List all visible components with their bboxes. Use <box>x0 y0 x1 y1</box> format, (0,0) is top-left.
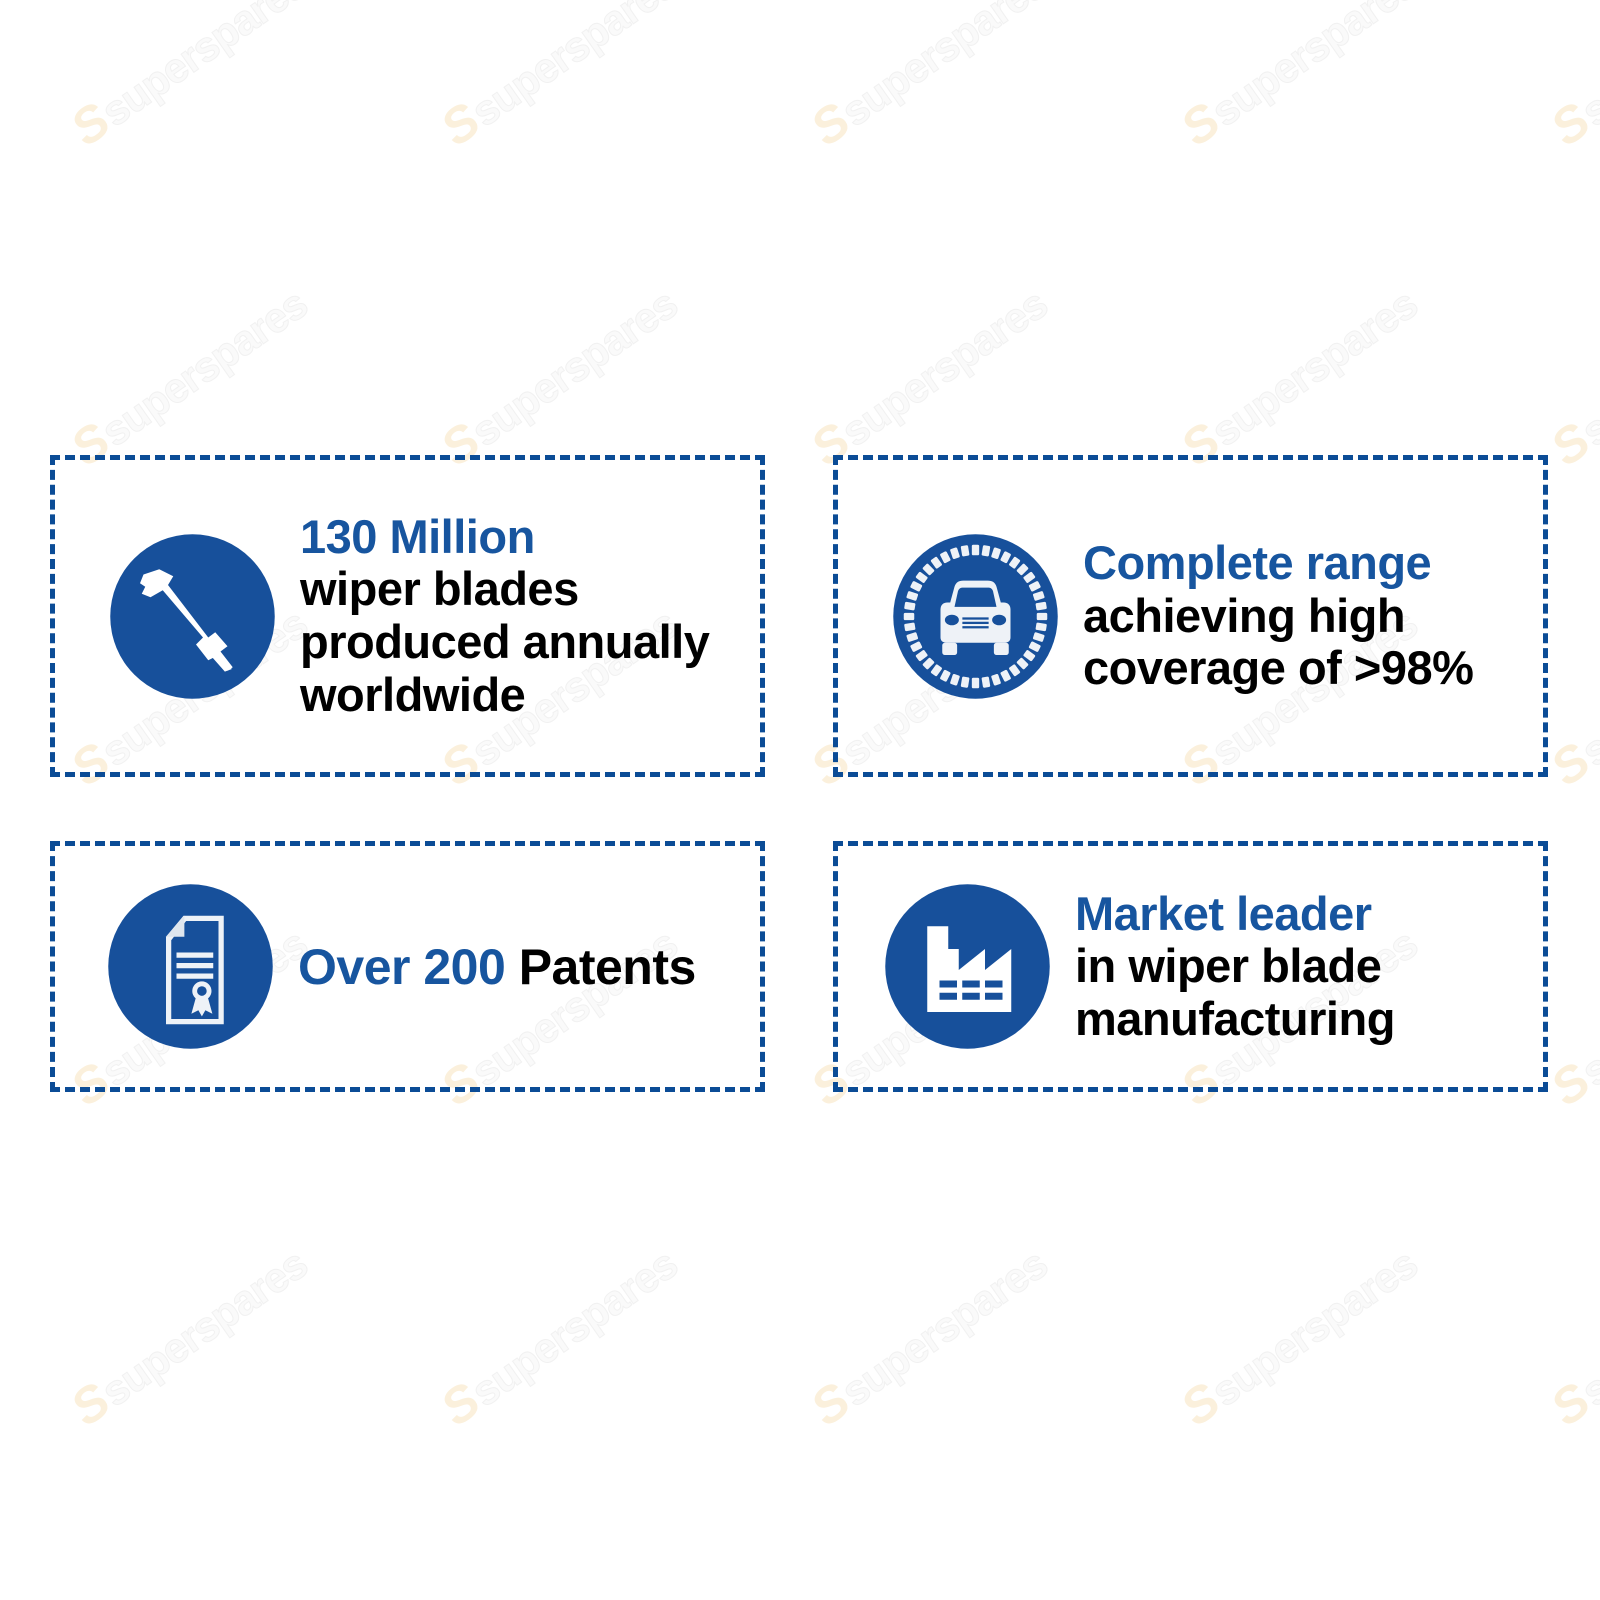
watermark-text: superspares <box>1573 600 1600 775</box>
watermark-text: superspares <box>1573 280 1600 455</box>
fact-line: in wiper blade <box>1075 940 1535 993</box>
watermark-item: Ssuperspares <box>1540 273 1600 477</box>
watermark-logo-mark: S <box>1171 92 1230 156</box>
watermark-item: Ssuperspares <box>1540 0 1600 158</box>
fact-heading: Over 200 <box>298 939 505 995</box>
watermark-item: Ssuperspares <box>1170 1233 1427 1437</box>
fact-heading: 130 Million <box>300 511 750 564</box>
fact-icon-market <box>838 879 1075 1054</box>
feature-highlights-grid: 130 Million wiper blades produced annual… <box>50 455 1548 1092</box>
watermark-text: superspares <box>463 1240 686 1415</box>
watermark-logo-mark: S <box>801 1372 860 1436</box>
watermark-item: Ssuperspares <box>1170 273 1427 477</box>
watermark-logo-mark: S <box>1541 412 1600 476</box>
watermark-text: superspares <box>1573 1240 1600 1415</box>
fact-line: worldwide <box>300 669 750 722</box>
watermark-item: Ssuperspares <box>60 0 317 158</box>
fact-panel-market: Market leader in wiper blade manufacturi… <box>833 841 1548 1092</box>
fact-panel-patents: Over 200 Patents <box>50 841 765 1092</box>
watermark-text: superspares <box>93 280 316 455</box>
watermark-text: superspares <box>1203 280 1426 455</box>
watermark-text: superspares <box>1203 1240 1426 1415</box>
watermark-item: Ssuperspares <box>800 273 1057 477</box>
watermark-logo-mark: S <box>1541 1372 1600 1436</box>
fact-line: coverage of >98% <box>1083 642 1535 695</box>
watermark-logo-mark: S <box>801 92 860 156</box>
watermark-text: superspares <box>463 280 686 455</box>
fact-panel-coverage: Complete range achieving high coverage o… <box>833 455 1548 777</box>
watermark-text: superspares <box>1203 0 1426 135</box>
watermark-logo-mark: S <box>61 92 120 156</box>
watermark-item: Ssuperspares <box>60 273 317 477</box>
fact-line: Patents <box>519 939 696 995</box>
fact-patents-line: Over 200 Patents <box>298 939 750 995</box>
watermark-item: Ssuperspares <box>60 1233 317 1437</box>
watermark-text: superspares <box>833 1240 1056 1415</box>
watermark-item: Ssuperspares <box>1540 1233 1600 1437</box>
fact-heading: Market leader <box>1075 888 1535 941</box>
watermark-logo-mark: S <box>1541 732 1600 796</box>
car-in-dashed-circle-icon <box>888 529 1063 704</box>
watermark-logo-mark: S <box>431 1372 490 1436</box>
watermark-text: superspares <box>1573 0 1600 135</box>
fact-line: manufacturing <box>1075 993 1535 1046</box>
fact-line: produced annually <box>300 616 750 669</box>
fact-icon-production <box>55 529 300 704</box>
watermark-item: Ssuperspares <box>1540 593 1600 797</box>
watermark-text: superspares <box>93 0 316 135</box>
watermark-item: Ssuperspares <box>1540 913 1600 1117</box>
watermark-text: superspares <box>93 1240 316 1415</box>
watermark-item: Ssuperspares <box>1170 0 1427 158</box>
fact-heading: Complete range <box>1083 537 1535 590</box>
fact-icon-patents <box>55 879 298 1054</box>
fact-text-coverage: Complete range achieving high coverage o… <box>1083 537 1543 695</box>
fact-panel-production: 130 Million wiper blades produced annual… <box>50 455 765 777</box>
watermark-text: superspares <box>463 0 686 135</box>
fact-icon-coverage <box>838 529 1083 704</box>
fact-line: wiper blades <box>300 563 750 616</box>
watermark-logo-mark: S <box>431 92 490 156</box>
fact-text-production: 130 Million wiper blades produced annual… <box>300 511 760 722</box>
wiper-blade-icon <box>105 529 280 704</box>
watermark-logo-mark: S <box>1541 1052 1600 1116</box>
watermark-item: Ssuperspares <box>430 0 687 158</box>
fact-line: achieving high <box>1083 590 1535 643</box>
patent-certificate-icon <box>103 879 278 1054</box>
watermark-item: Ssuperspares <box>430 1233 687 1437</box>
watermark-text: superspares <box>833 280 1056 455</box>
watermark-text: superspares <box>1573 920 1600 1095</box>
watermark-text: superspares <box>833 0 1056 135</box>
watermark-logo-mark: S <box>61 1372 120 1436</box>
factory-icon <box>880 879 1055 1054</box>
watermark-item: Ssuperspares <box>800 0 1057 158</box>
watermark-item: Ssuperspares <box>430 273 687 477</box>
watermark-logo-mark: S <box>1541 92 1600 156</box>
watermark-item: Ssuperspares <box>800 1233 1057 1437</box>
fact-text-market: Market leader in wiper blade manufacturi… <box>1075 888 1543 1046</box>
fact-text-patents: Over 200 Patents <box>298 939 760 995</box>
watermark-logo-mark: S <box>1171 1372 1230 1436</box>
